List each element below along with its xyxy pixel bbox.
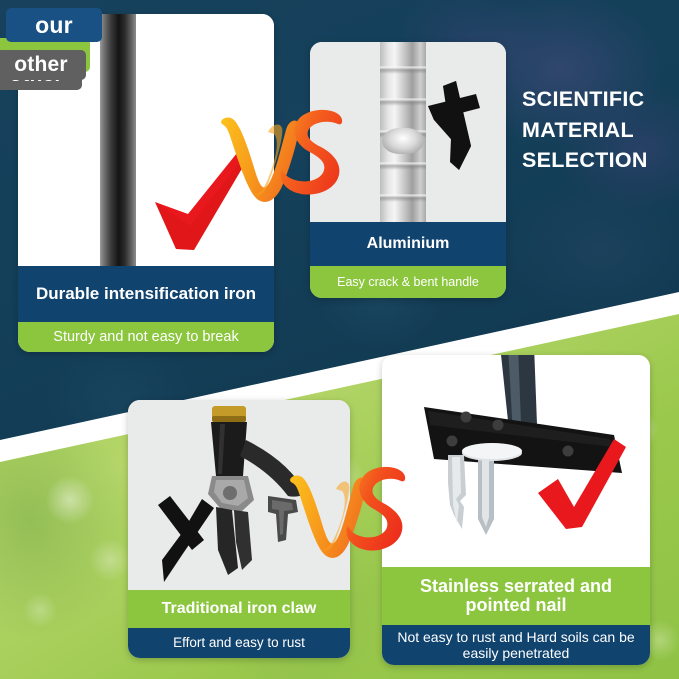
card-caption: Stainless serrated and pointed nail [382, 567, 650, 625]
comparison-card-top-right[interactable]: Aluminium Easy crack & bent handle [310, 42, 506, 298]
traditional-iron-claw-photo [128, 400, 350, 590]
headline-line-3: SELECTION [522, 145, 674, 176]
headline-line-2: MATERIAL [522, 115, 674, 146]
card-subcaption: Sturdy and not easy to break [18, 322, 274, 352]
card-subcaption: Easy crack & bent handle [310, 266, 506, 298]
card-subcaption: Effort and easy to rust [128, 628, 350, 658]
black-cross-icon [310, 42, 506, 222]
card-caption: Traditional iron claw [128, 590, 350, 628]
badge-our-bottom-right: our [6, 8, 102, 42]
card-caption: Aluminium [310, 222, 506, 266]
headline-line-1: SCIENTIFIC [522, 84, 674, 115]
card-subcaption: Not easy to rust and Hard soils can be e… [382, 625, 650, 665]
page-title: SCIENTIFIC MATERIAL SELECTION [522, 84, 674, 176]
comparison-card-bottom-right[interactable]: Stainless serrated and pointed nail Not … [382, 355, 650, 665]
infographic-canvas: SCIENTIFIC MATERIAL SELECTION Durable in… [0, 0, 679, 679]
aluminium-pipe-photo [310, 42, 506, 222]
card-caption: Durable intensification iron [18, 266, 274, 322]
badge-other-bottom-left: other [0, 50, 86, 80]
iron-claw-illustration [128, 400, 350, 590]
comparison-card-bottom-left[interactable]: Traditional iron claw Effort and easy to… [128, 400, 350, 658]
serrated-nail-illustration [382, 355, 650, 567]
stainless-serrated-nail-photo [382, 355, 650, 567]
